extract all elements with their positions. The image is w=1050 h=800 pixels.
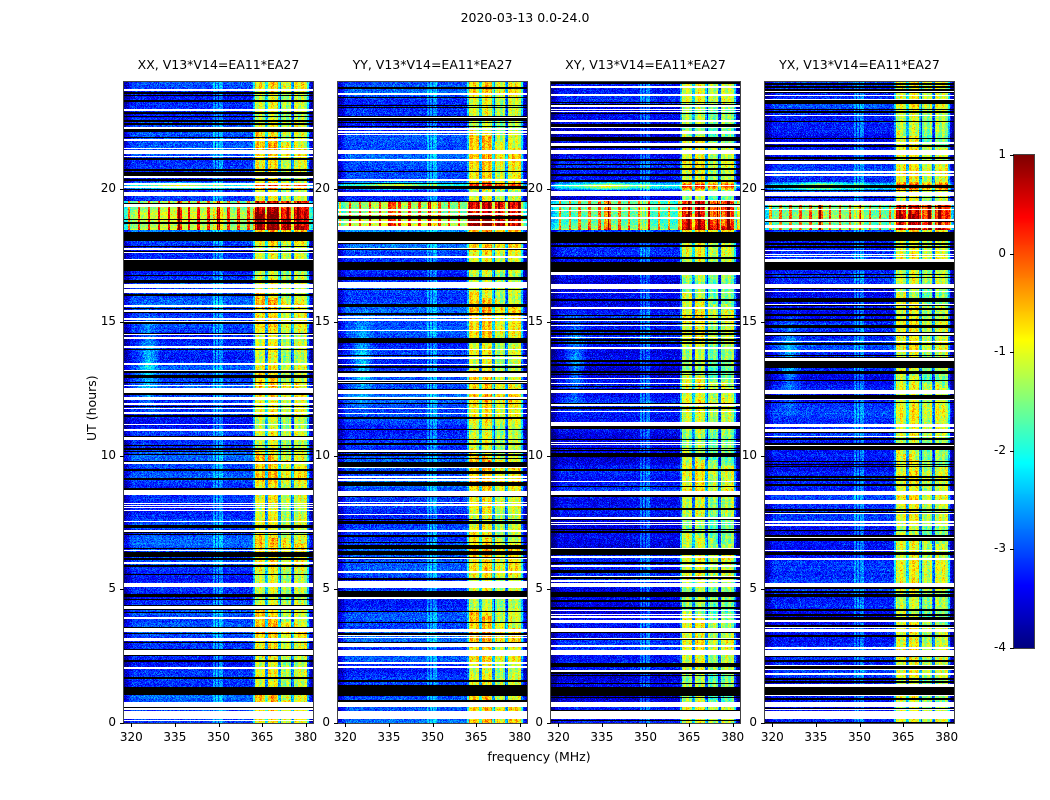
y-tick-label: 10: [82, 448, 116, 462]
y-tick-label: 15: [82, 314, 116, 328]
x-tickmark: [476, 723, 477, 727]
y-tick-label: 20: [509, 181, 543, 195]
x-tickmark: [389, 723, 390, 727]
waterfall-panel-yy: [338, 82, 527, 723]
x-tickmark: [772, 723, 773, 727]
colorbar-tick-label: -4: [972, 640, 1006, 654]
panel-title-yy: YY, V13*V14=EA11*EA27: [338, 57, 527, 72]
x-tickmark: [602, 723, 603, 727]
y-tickmark: [547, 189, 551, 190]
y-tick-label: 0: [723, 715, 757, 729]
y-tick-label: 5: [509, 581, 543, 595]
x-tickmark: [262, 723, 263, 727]
y-tickmark: [761, 322, 765, 323]
x-tickmark: [219, 723, 220, 727]
y-tick-label: 10: [509, 448, 543, 462]
waterfall-panel-xy: [551, 82, 740, 723]
waterfall-panel-xx: [124, 82, 313, 723]
y-tickmark: [761, 456, 765, 457]
y-tickmark: [120, 189, 124, 190]
x-tick-label: 320: [111, 730, 151, 744]
x-tick-label: 350: [199, 730, 239, 744]
x-tickmark: [345, 723, 346, 727]
y-tickmark: [547, 723, 551, 724]
x-tick-label: 365: [669, 730, 709, 744]
y-tick-label: 10: [296, 448, 330, 462]
x-tick-label: 365: [242, 730, 282, 744]
x-tickmark: [175, 723, 176, 727]
y-tickmark: [120, 456, 124, 457]
x-tick-label: 350: [840, 730, 880, 744]
x-tickmark: [558, 723, 559, 727]
colorbar-tickmark: [1010, 451, 1014, 452]
colorbar-tick-label: -2: [972, 443, 1006, 457]
y-tickmark: [334, 723, 338, 724]
x-tick-label: 335: [582, 730, 622, 744]
y-tick-label: 20: [82, 181, 116, 195]
x-tick-label: 380: [286, 730, 326, 744]
colorbar-tickmark: [1010, 254, 1014, 255]
x-tickmark: [947, 723, 948, 727]
x-tick-label: 335: [369, 730, 409, 744]
panel-title-xx: XX, V13*V14=EA11*EA27: [124, 57, 313, 72]
y-tick-label: 0: [509, 715, 543, 729]
colorbar-tickmark: [1010, 549, 1014, 550]
y-tickmark: [547, 322, 551, 323]
y-tickmark: [334, 589, 338, 590]
colorbar-tickmark: [1010, 648, 1014, 649]
y-tickmark: [120, 723, 124, 724]
x-tickmark: [131, 723, 132, 727]
y-tickmark: [761, 189, 765, 190]
x-tick-label: 320: [538, 730, 578, 744]
figure-suptitle: 2020-03-13 0.0-24.0: [0, 10, 1050, 25]
y-tickmark: [120, 322, 124, 323]
x-tick-label: 350: [413, 730, 453, 744]
y-tick-label: 20: [296, 181, 330, 195]
colorbar-tick-label: -3: [972, 541, 1006, 555]
colorbar-tick-label: 0: [972, 246, 1006, 260]
x-tick-label: 350: [626, 730, 666, 744]
y-tick-label: 15: [296, 314, 330, 328]
waterfall-panel-yx: [765, 82, 954, 723]
y-tick-label: 5: [723, 581, 757, 595]
colorbar-tickmark: [1010, 155, 1014, 156]
x-tickmark: [689, 723, 690, 727]
panel-title-xy: XY, V13*V14=EA11*EA27: [551, 57, 740, 72]
x-tickmark: [860, 723, 861, 727]
y-tickmark: [547, 589, 551, 590]
y-tickmark: [761, 589, 765, 590]
x-tickmark: [816, 723, 817, 727]
x-tick-label: 365: [883, 730, 923, 744]
panel-title-yx: YX, V13*V14=EA11*EA27: [765, 57, 954, 72]
y-tick-label: 15: [723, 314, 757, 328]
y-tickmark: [334, 322, 338, 323]
colorbar-tickmark: [1010, 352, 1014, 353]
x-tick-label: 320: [752, 730, 792, 744]
colorbar: [1014, 155, 1034, 648]
y-tickmark: [761, 723, 765, 724]
y-tick-label: 15: [509, 314, 543, 328]
x-tick-label: 335: [155, 730, 195, 744]
y-tick-label: 0: [82, 715, 116, 729]
y-tickmark: [334, 189, 338, 190]
y-tick-label: 0: [296, 715, 330, 729]
y-tickmark: [334, 456, 338, 457]
x-tick-label: 380: [713, 730, 753, 744]
y-tick-label: 10: [723, 448, 757, 462]
x-tick-label: 320: [325, 730, 365, 744]
colorbar-tick-label: -1: [972, 344, 1006, 358]
y-tick-label: 5: [82, 581, 116, 595]
y-axis-label: UT (hours): [84, 375, 99, 441]
x-tickmark: [646, 723, 647, 727]
y-tick-label: 5: [296, 581, 330, 595]
y-tick-label: 20: [723, 181, 757, 195]
x-tick-label: 335: [796, 730, 836, 744]
x-tick-label: 380: [500, 730, 540, 744]
x-tick-label: 365: [456, 730, 496, 744]
y-tickmark: [547, 456, 551, 457]
colorbar-tick-label: 1: [972, 147, 1006, 161]
x-tickmark: [903, 723, 904, 727]
y-tickmark: [120, 589, 124, 590]
x-tick-label: 380: [927, 730, 967, 744]
x-tickmark: [433, 723, 434, 727]
x-axis-label: frequency (MHz): [124, 749, 954, 764]
figure-canvas: 2020-03-13 0.0-24.0 XX, V13*V14=EA11*EA2…: [0, 0, 1050, 800]
